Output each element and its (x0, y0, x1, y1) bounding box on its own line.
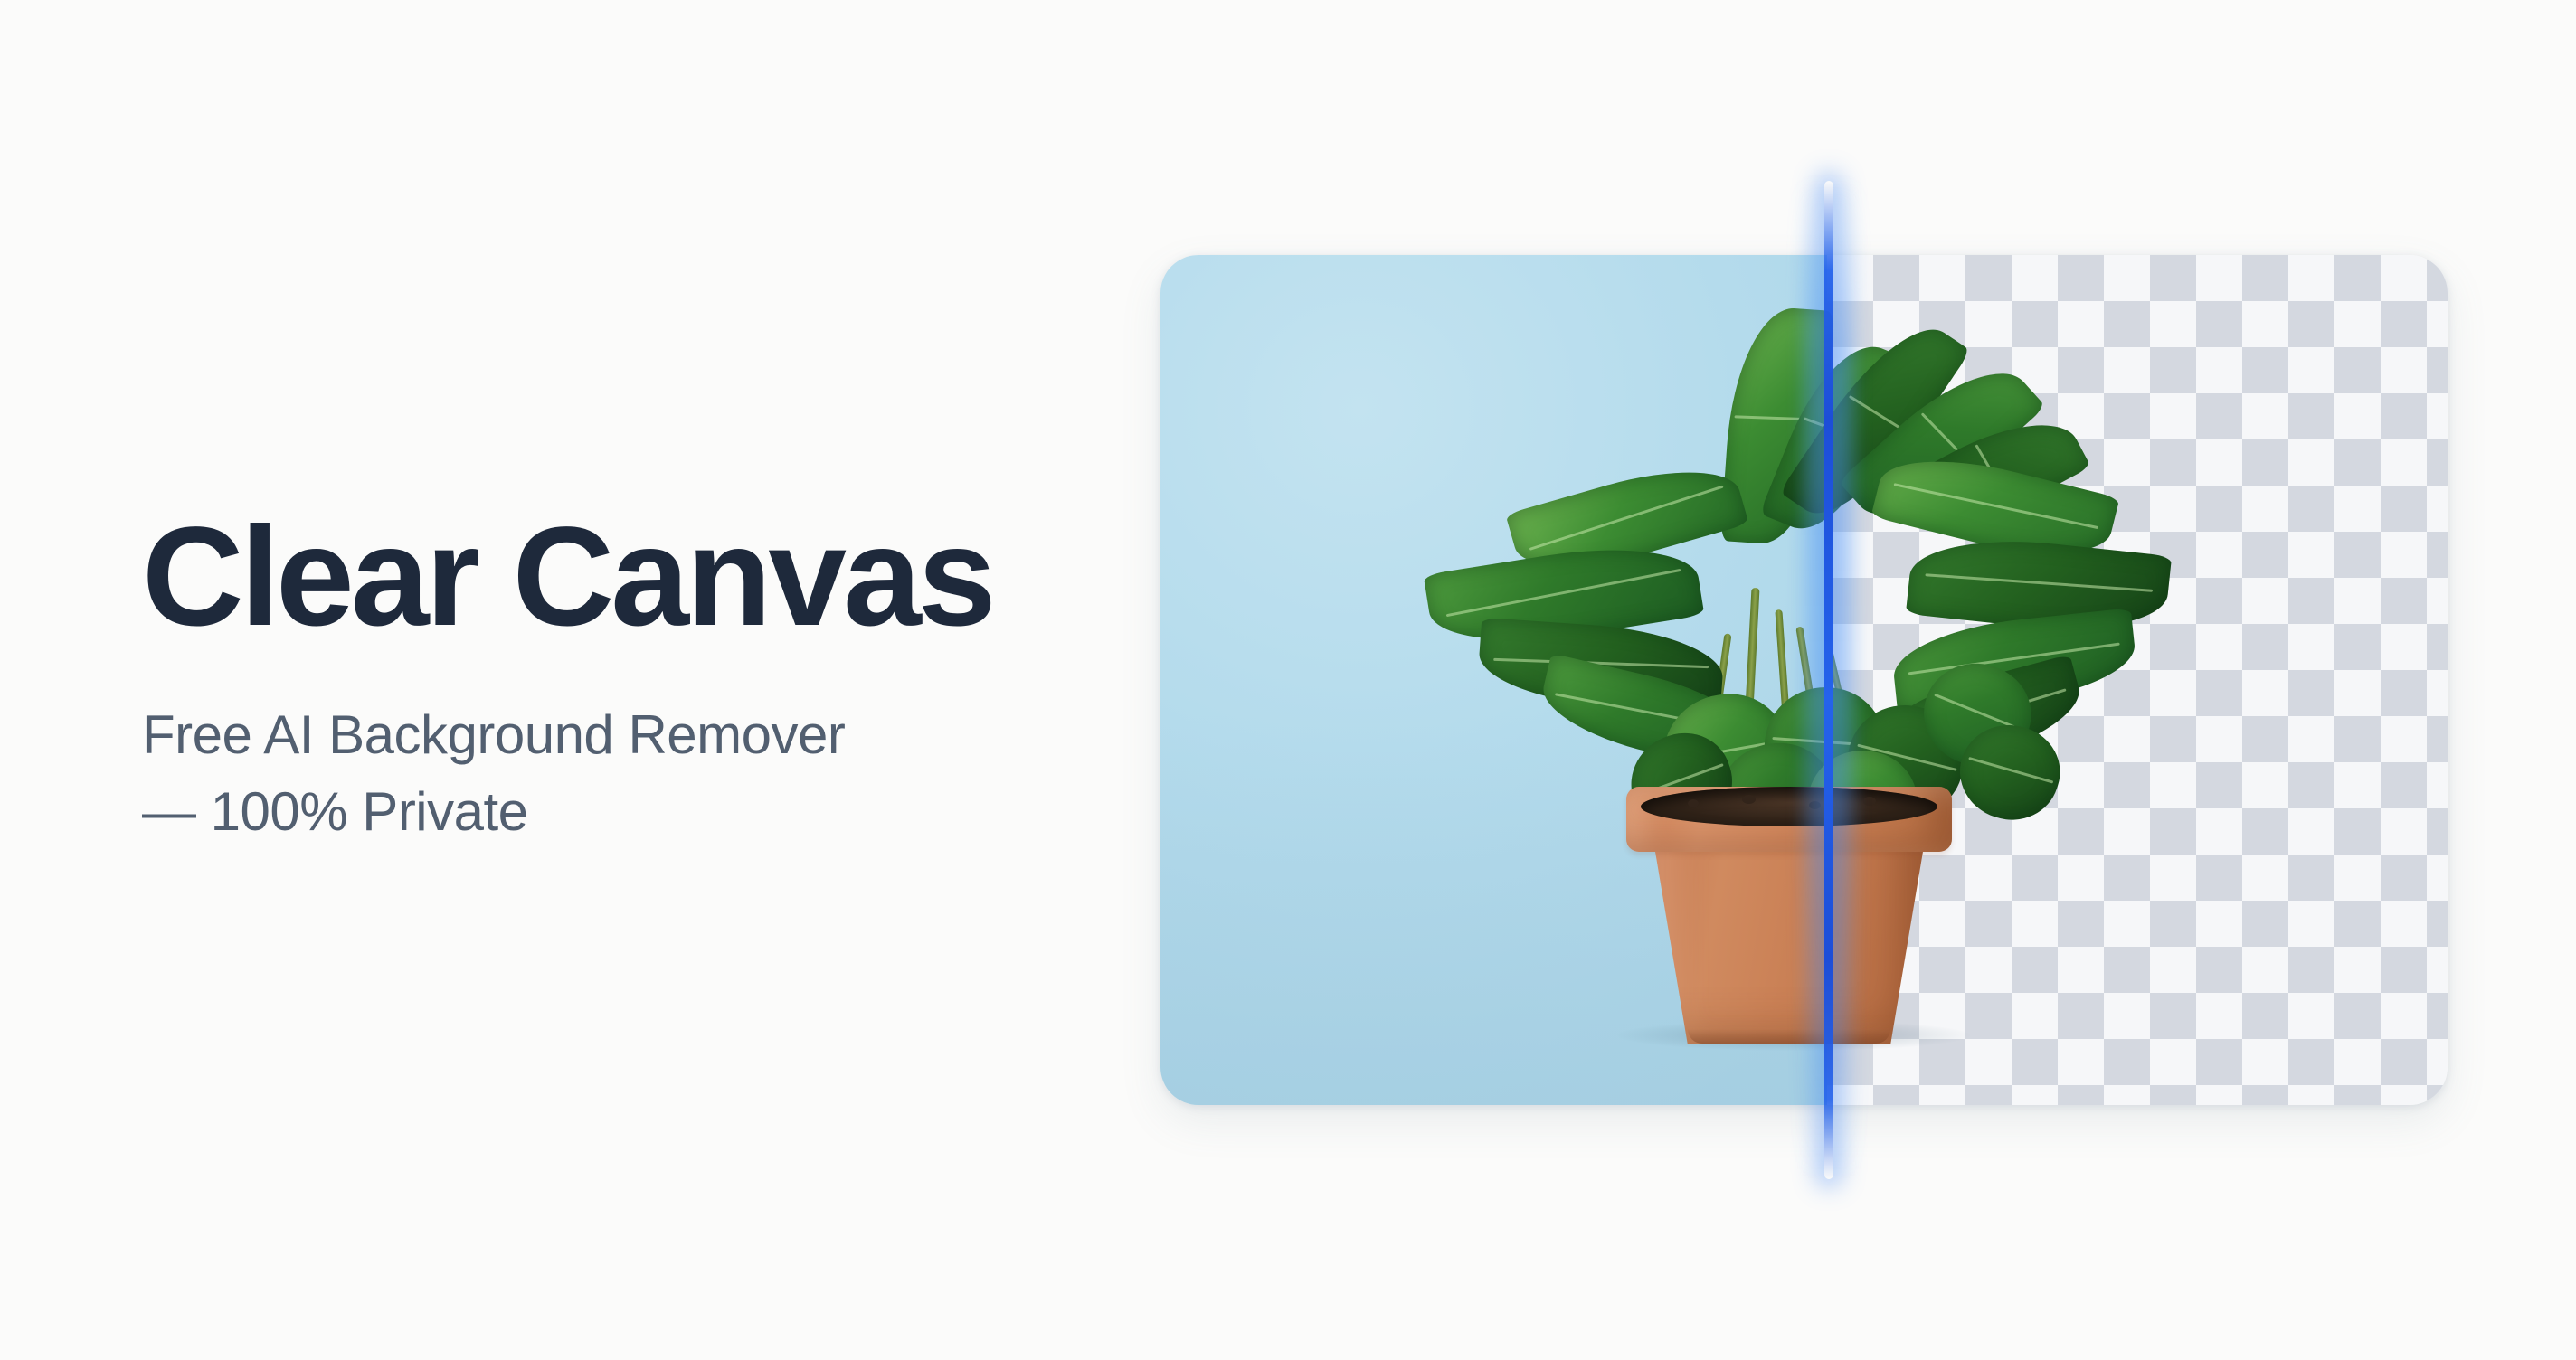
before-after-divider-handle[interactable] (1824, 181, 1833, 1179)
original-image-panel (1160, 255, 1827, 1105)
page-title: Clear Canvas (142, 506, 1056, 647)
hero-subtitle: Free AI Background Remover — 100% Privat… (142, 696, 1046, 850)
app-root: Clear Canvas Free AI Background Remover … (0, 0, 2576, 1360)
hero-subtitle-line-2: — 100% Private (142, 773, 1046, 850)
hero-subtitle-line-1: Free AI Background Remover (142, 696, 1046, 773)
hero-copy: Clear Canvas Free AI Background Remover … (142, 506, 1056, 850)
transparent-result-panel (1827, 255, 2448, 1105)
